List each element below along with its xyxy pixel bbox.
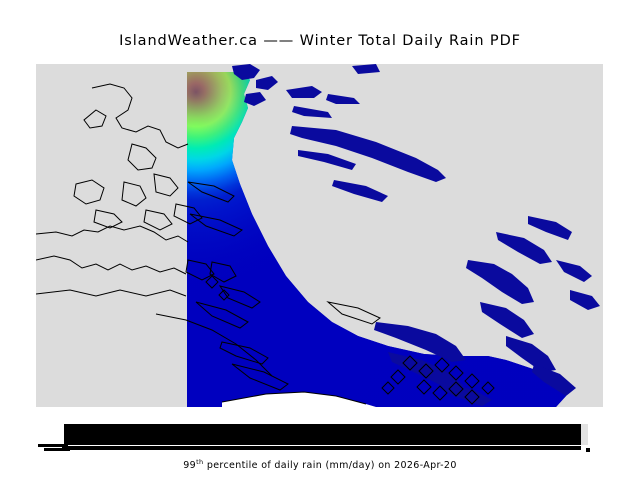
colorbar-region[interactable]: [0, 420, 640, 454]
colorbar-right-tick: [586, 448, 590, 452]
caption-suffix: percentile of daily rain (mm/day) on 202…: [203, 460, 456, 471]
map-canvas[interactable]: [36, 64, 603, 407]
weather-map-figure: IslandWeather.ca —— Winter Total Daily R…: [0, 0, 640, 480]
figure-caption: 99th percentile of daily rain (mm/day) o…: [0, 458, 640, 471]
northern-inlet-waters: [232, 64, 380, 118]
map-panel[interactable]: [36, 64, 603, 407]
colorbar-axis-line: [62, 446, 581, 450]
colorbar-left-pointer-lower: [44, 448, 70, 451]
caption-prefix: 99: [183, 460, 196, 471]
rain-colorbar[interactable]: [64, 424, 581, 445]
colorbar-overflow-cap: [581, 424, 588, 445]
colorbar-left-pointer: [38, 444, 68, 447]
figure-title: IslandWeather.ca —— Winter Total Daily R…: [0, 33, 640, 49]
